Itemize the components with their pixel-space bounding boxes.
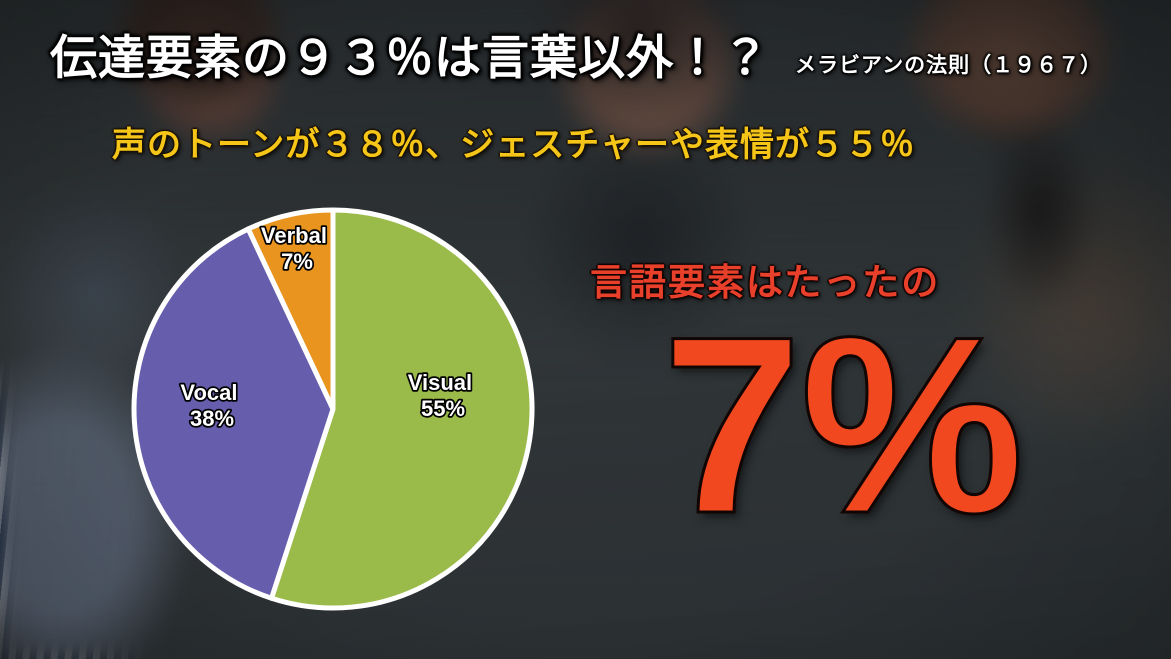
pie-label-visual-value: 55%: [421, 396, 465, 421]
slide-canvas: 伝達要素の９３％は言葉以外！？ メラビアンの法則（１９６７） 声のトーンが３８％…: [0, 0, 1171, 659]
pie-label-visual-name: Visual: [408, 370, 472, 395]
pie-label-verbal-value: 7%: [281, 249, 313, 274]
pie-label-verbal-name: Verbal: [261, 223, 327, 248]
pie-label-vocal-value: 38%: [190, 406, 234, 431]
big-percentage: 7%: [662, 300, 1022, 552]
pie-label-vocal-name: Vocal: [180, 380, 237, 405]
